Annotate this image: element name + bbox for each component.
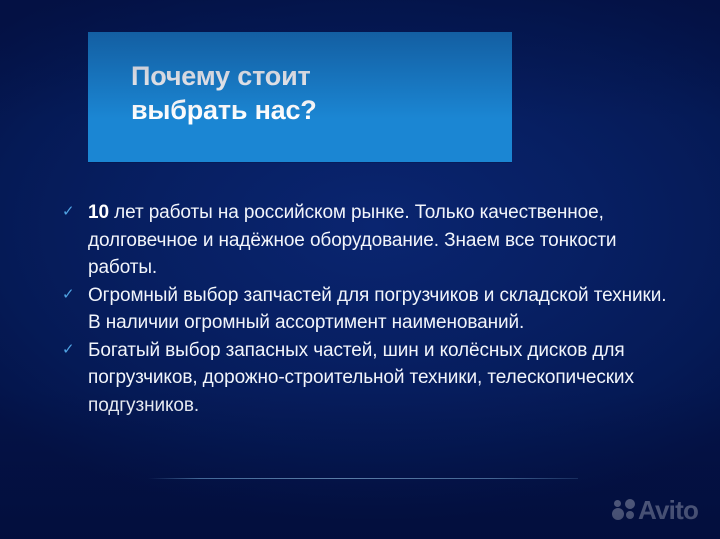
list-item-body: Огромный выбор запчастей для погрузчиков… <box>88 285 666 334</box>
list-item-lead: 10 <box>88 202 109 223</box>
list-item: ✓ 10 лет работы на российском рынке. Тол… <box>62 199 672 282</box>
avito-brand-text: Avito <box>638 498 698 522</box>
list-item-text: Огромный выбор запчастей для погрузчиков… <box>88 282 672 337</box>
check-icon: ✓ <box>62 199 88 219</box>
slide-canvas: Почему стоит выбрать нас? ✓ 10 лет работ… <box>0 0 720 539</box>
list-item-text: Богатый выбор запасных частей, шин и кол… <box>88 337 672 420</box>
check-icon: ✓ <box>62 282 88 302</box>
list-item-text: 10 лет работы на российском рынке. Тольк… <box>88 199 672 282</box>
avito-watermark: Avito <box>612 498 698 522</box>
title-banner: Почему стоит выбрать нас? <box>88 32 512 162</box>
divider <box>148 478 578 479</box>
benefits-list: ✓ 10 лет работы на российском рынке. Тол… <box>62 199 672 419</box>
page-title: Почему стоит выбрать нас? <box>131 59 491 127</box>
list-item: ✓ Огромный выбор запчастей для погрузчик… <box>62 282 672 337</box>
list-item-body: Богатый выбор запасных частей, шин и кол… <box>88 340 634 416</box>
list-item: ✓ Богатый выбор запасных частей, шин и к… <box>62 337 672 420</box>
list-item-body: лет работы на российском рынке. Только к… <box>88 202 616 278</box>
check-icon: ✓ <box>62 337 88 357</box>
avito-logo-icon <box>612 498 636 522</box>
